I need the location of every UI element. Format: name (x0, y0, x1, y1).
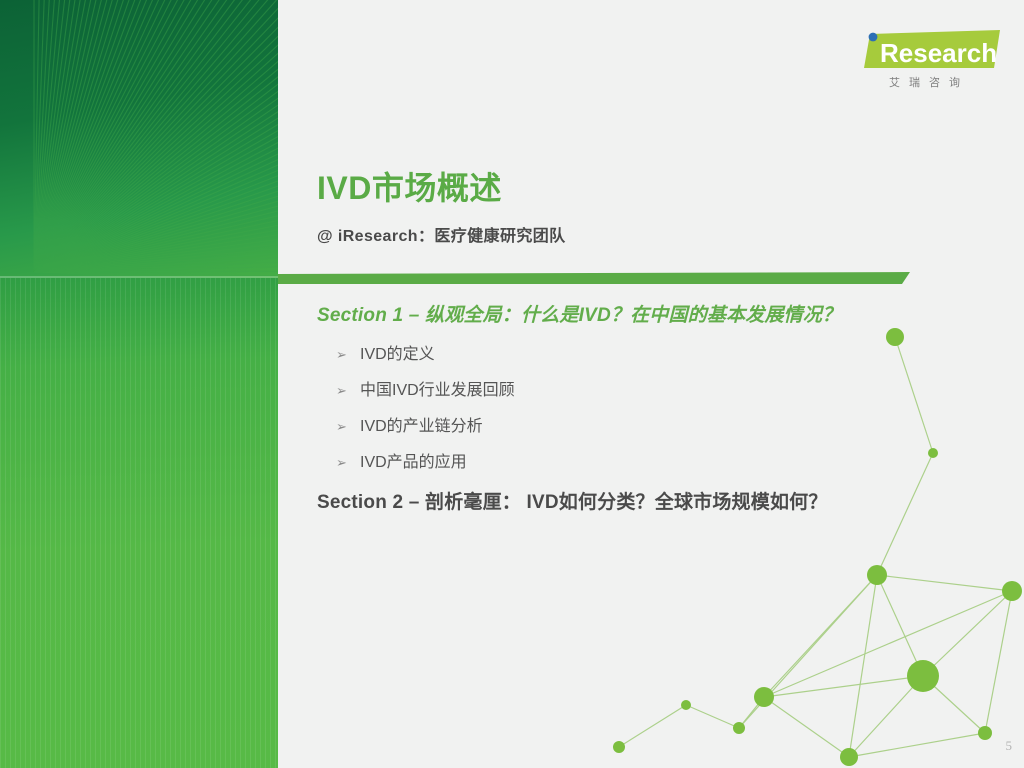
page-title: IVD市场概述 (317, 163, 502, 209)
list-item-label: IVD的定义 (360, 340, 435, 364)
network-node (978, 726, 992, 740)
list-item-label: IVD产品的应用 (360, 448, 467, 472)
header-divider-rule (278, 272, 913, 286)
page-number: 5 (1006, 738, 1013, 754)
svg-text:Research: Research (880, 38, 997, 68)
bullet-arrow-icon: ➢ (336, 384, 360, 399)
network-node (1002, 581, 1022, 601)
section-1-bullet-list: ➢ IVD的定义 ➢ 中国IVD行业发展回顾 ➢ IVD的产业链分析 ➢ IVD… (336, 340, 876, 484)
network-node (754, 687, 774, 707)
network-node (928, 448, 938, 458)
logo-chinese-name: 艾瑞咨询 (858, 74, 1000, 90)
vertical-stripes-texture (0, 278, 278, 768)
network-node (733, 722, 745, 734)
section-2-heading: Section 2 – 剖析毫厘： IVD如何分类？全球市场规模如何？ (317, 487, 828, 514)
list-item[interactable]: ➢ 中国IVD行业发展回顾 (336, 376, 876, 412)
page-subtitle: @ iResearch：医疗健康研究团队 (317, 222, 566, 246)
iresearch-logo: i Research 艾瑞咨询 (854, 28, 1000, 96)
network-node (907, 660, 939, 692)
list-item-label: IVD的产业链分析 (360, 412, 483, 436)
slide-canvas: i Research 艾瑞咨询 IVD市场概述 @ iResearch：医疗健康… (0, 0, 1024, 768)
left-decorative-panel (0, 0, 278, 768)
section-1-heading: Section 1 – 纵观全局：什么是IVD？在中国的基本发展情况？ (317, 300, 841, 327)
striped-panel (0, 278, 278, 768)
sunburst-rays-icon (0, 0, 278, 278)
bullet-arrow-icon: ➢ (336, 456, 360, 471)
rule-shape (278, 272, 913, 286)
list-item[interactable]: ➢ IVD产品的应用 (336, 448, 876, 484)
sunburst-panel (0, 0, 278, 278)
network-node (681, 700, 691, 710)
network-node (840, 748, 858, 766)
svg-text:i: i (867, 38, 876, 70)
list-item[interactable]: ➢ IVD的产业链分析 (336, 412, 876, 448)
list-item-label: 中国IVD行业发展回顾 (360, 376, 515, 400)
iresearch-wordmark-icon: i Research (854, 28, 1000, 72)
list-item[interactable]: ➢ IVD的定义 (336, 340, 876, 376)
bullet-arrow-icon: ➢ (336, 348, 360, 363)
network-node (867, 565, 887, 585)
network-node (886, 328, 904, 346)
bullet-arrow-icon: ➢ (336, 420, 360, 435)
network-node (613, 741, 625, 753)
